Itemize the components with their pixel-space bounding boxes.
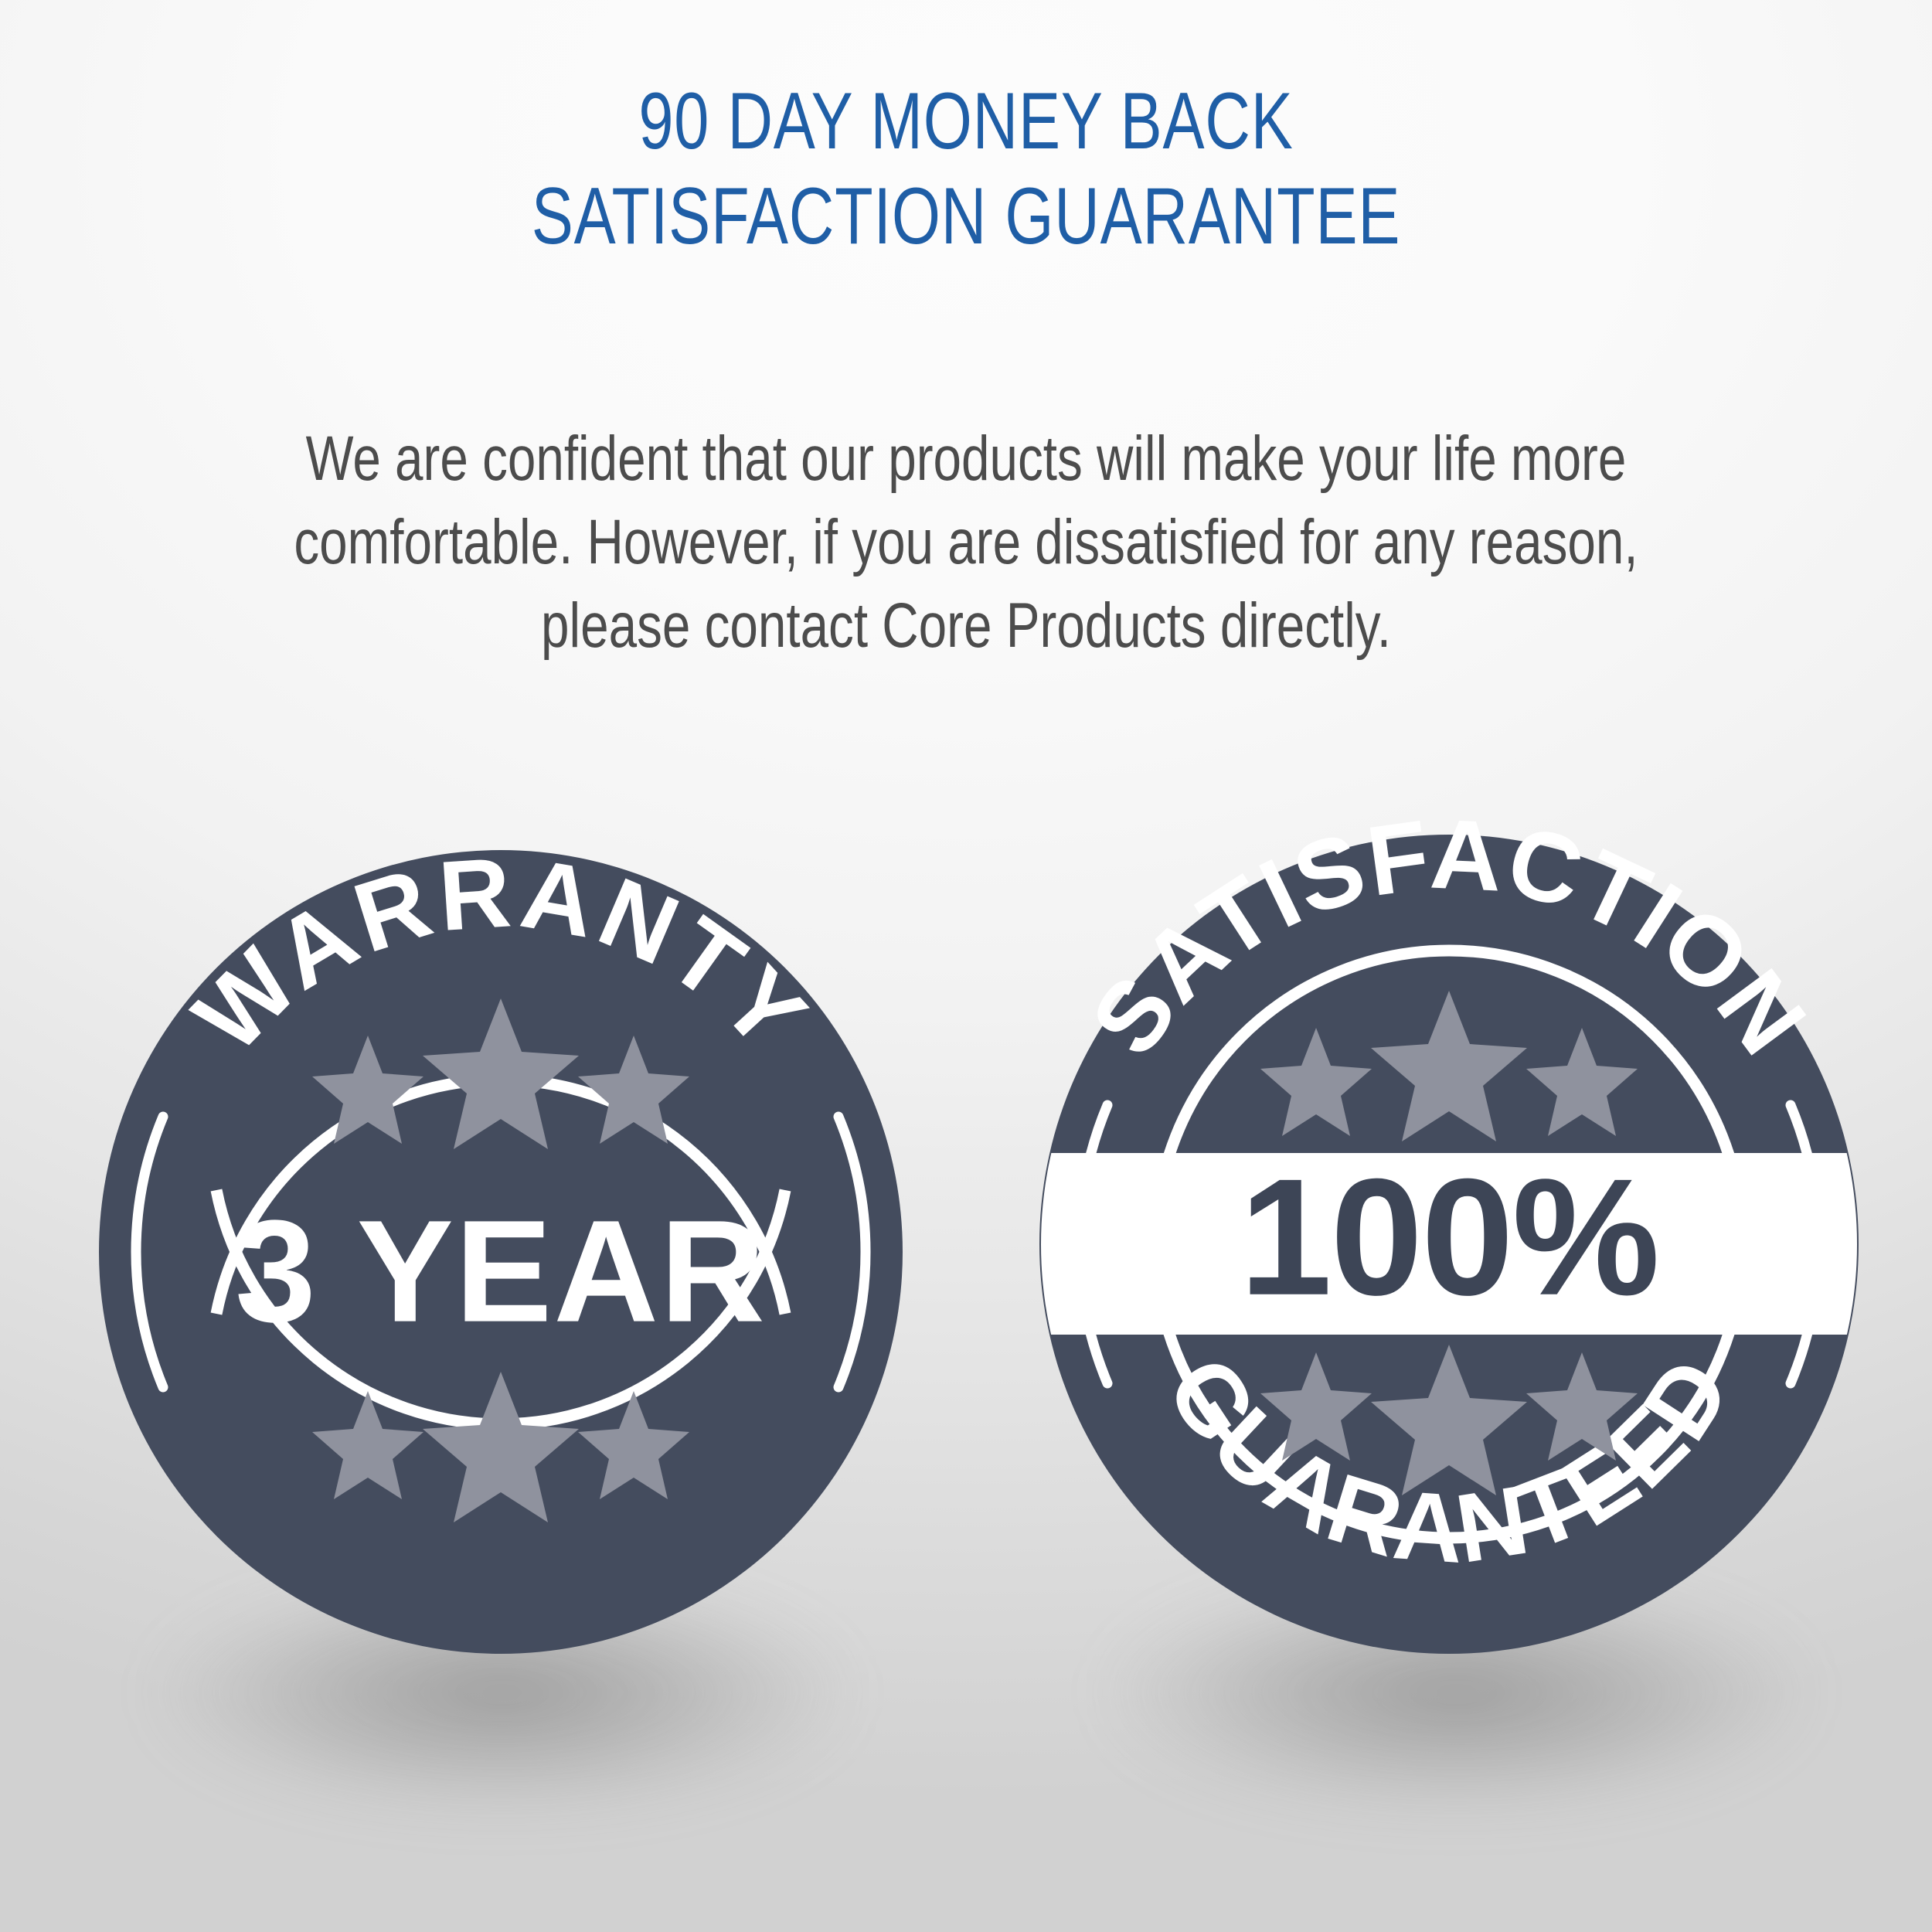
satisfaction-center-label: 100% — [1240, 1144, 1658, 1330]
intro-line-3: please contact Core Products directly. — [267, 584, 1665, 668]
title-line-1: 90 DAY MONEY BACK — [213, 74, 1719, 169]
warranty-badge[interactable]: WARRANTY 3 YEAR — [91, 804, 910, 1654]
badge-row: WARRANTY 3 YEAR — [0, 804, 1932, 1762]
warranty-center-label: 3 YEAR — [235, 1190, 767, 1352]
intro-line-2: comfortable. However, if you are dissati… — [267, 501, 1665, 584]
intro-line-1: We are confident that our products will … — [267, 417, 1665, 501]
page-title: 90 DAY MONEY BACK SATISFACTION GUARANTEE — [0, 74, 1932, 264]
intro-paragraph: We are confident that our products will … — [93, 417, 1839, 668]
satisfaction-badge[interactable]: SATISFACTION GUARANTEED — [1032, 804, 1866, 1662]
guarantee-graphic: 90 DAY MONEY BACK SATISFACTION GUARANTEE… — [0, 0, 1932, 1932]
title-line-2: SATISFACTION GUARANTEE — [213, 169, 1719, 264]
